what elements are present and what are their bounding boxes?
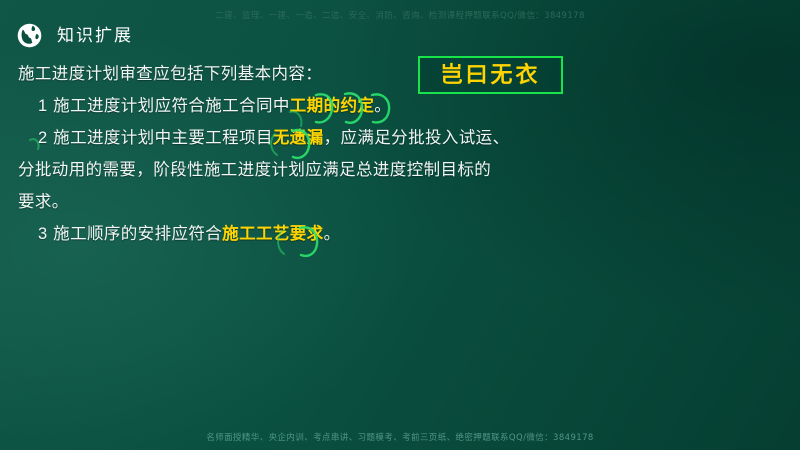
slide-canvas: 二建、监理、一建、一造、二造、安全、消防、咨询、检测课程押题联系QQ/微信：38…	[0, 0, 800, 450]
list-item-2-continuation-1: 分批动用的需要，阶段性施工进度计划应满足总进度控制目标的	[18, 154, 618, 186]
body-content: 施工进度计划审查应包括下列基本内容： 1 施工进度计划应符合施工合同中工期的约定…	[18, 58, 618, 250]
top-watermark: 二建、监理、一建、一造、二造、安全、消防、咨询、检测课程押题联系QQ/微信：38…	[0, 9, 800, 21]
item-3-highlight: 施工工艺要求	[222, 225, 323, 243]
globe-icon	[16, 22, 43, 49]
page-title: 知识扩展	[57, 27, 133, 44]
item-1-text-after: 。	[374, 97, 391, 115]
item-3-text-before: 施工顺序的安排应符合	[53, 225, 222, 243]
intro-text: 施工进度计划审查应包括下列基本内容：	[18, 65, 322, 83]
item-2-text-after: ，应满足分批投入试运、	[324, 129, 510, 147]
item-2-highlight: 无遗漏	[273, 129, 324, 147]
list-item-2-continuation-2: 要求。	[18, 186, 618, 218]
item-1-highlight: 工期的约定	[290, 97, 375, 115]
item-3-text-after: 。	[324, 225, 341, 243]
slide-header: 知识扩展	[16, 22, 133, 49]
item-3-number: 3	[38, 225, 48, 243]
list-item-1: 1 施工进度计划应符合施工合同中工期的约定。	[18, 90, 618, 122]
list-item-3: 3 施工顺序的安排应符合施工工艺要求。	[18, 218, 618, 250]
item-1-number: 1	[38, 97, 48, 115]
item-2-number: 2	[38, 129, 48, 147]
item-2-text-before: 施工进度计划中主要工程项目	[53, 129, 273, 147]
bottom-watermark: 名师面授精华、央企内训、考点串讲、习题模考、考前三页纸、绝密押题联系QQ/微信：…	[0, 431, 800, 443]
intro-line: 施工进度计划审查应包括下列基本内容：	[18, 58, 618, 90]
item-1-text-before: 施工进度计划应符合施工合同中	[53, 97, 290, 115]
list-item-2: 2 施工进度计划中主要工程项目无遗漏，应满足分批投入试运、	[18, 122, 618, 154]
